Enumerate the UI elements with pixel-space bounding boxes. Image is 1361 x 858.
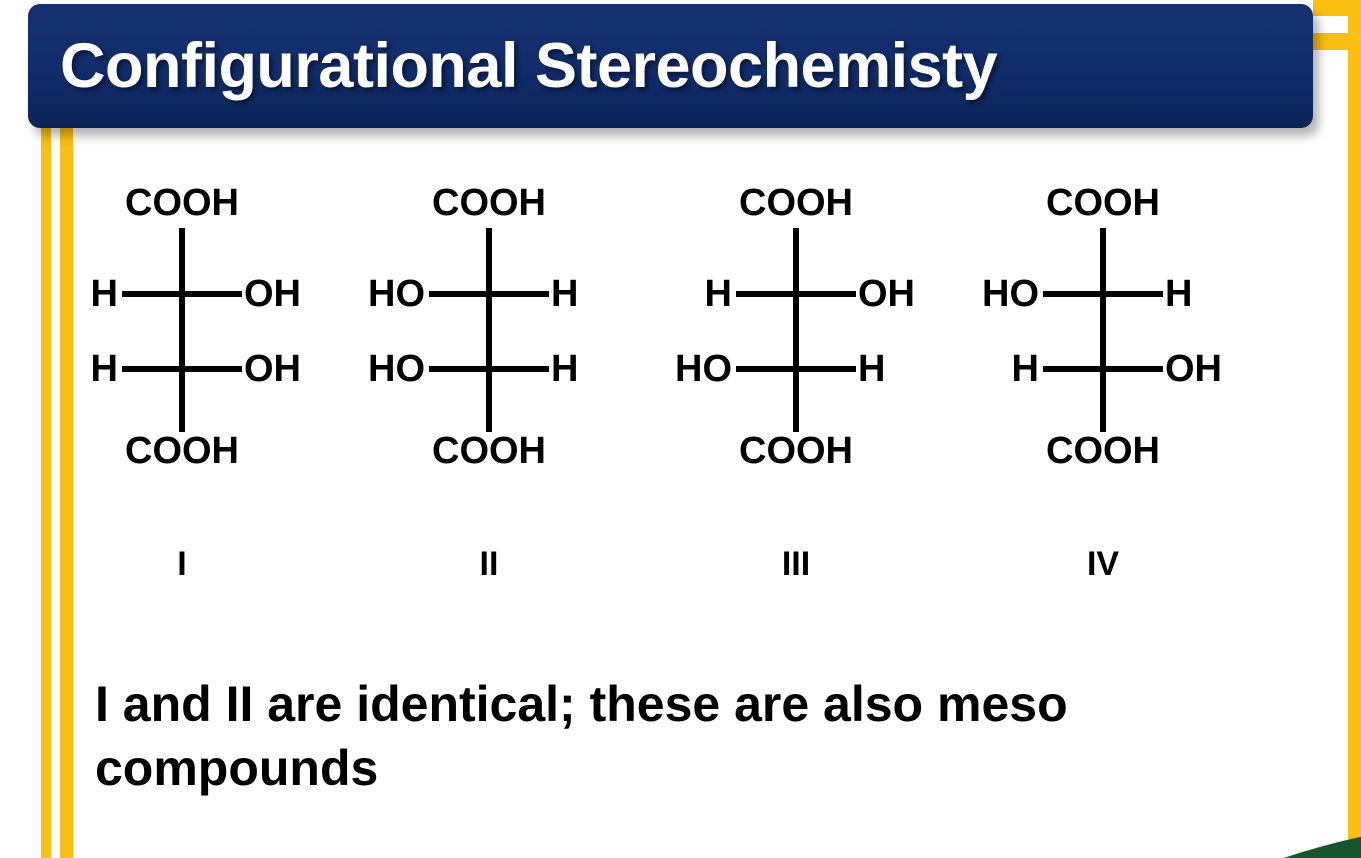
structure-label-3: III (782, 545, 810, 584)
slide-canvas: Configurational Stereochemisty COOH H OH… (0, 0, 1361, 858)
structure-2-row1-right: H (551, 275, 578, 313)
structure-3-row1-left: H (705, 275, 732, 313)
structure-4-row2-left: H (1012, 350, 1039, 388)
fischer-structure-4: COOH HO H H OH COOH (1017, 184, 1324, 484)
structure-label-2: II (480, 545, 499, 584)
structure-4-top-group: COOH (1046, 184, 1160, 222)
structure-3-bond-bottom (793, 369, 799, 432)
structure-4-row1-left: HO (982, 275, 1039, 313)
green-swoosh-shape (1110, 820, 1361, 858)
structure-2-row2-right: H (551, 350, 578, 388)
fischer-structure-1: COOH H OH H OH COOH (96, 184, 403, 484)
structure-label-4: IV (1087, 545, 1119, 584)
structure-4-bond-top (1100, 228, 1106, 294)
structure-2-row1-left: HO (368, 275, 425, 313)
gold-stripe-right-vertical (1348, 0, 1361, 858)
structure-4-row1-right: H (1165, 275, 1192, 313)
structure-label-cell-1: I (96, 545, 403, 605)
structure-3-bond-top (793, 228, 799, 294)
structure-2-row2-left: HO (368, 350, 425, 388)
green-corner-swoosh (1110, 806, 1361, 858)
structure-1-row2-left: H (91, 350, 118, 388)
fischer-structure-3: COOH H OH HO H COOH (710, 184, 1017, 484)
structure-1-diagram: COOH H OH H OH COOH (96, 184, 403, 484)
structure-2-bond-middle (486, 294, 492, 369)
gold-stripe-right-top-bar (1313, 0, 1361, 16)
structure-4-bond-bottom (1100, 369, 1106, 432)
structure-1-bottom-group: COOH (125, 432, 239, 470)
structure-label-1: I (177, 545, 186, 584)
structure-3-bottom-group: COOH (739, 432, 853, 470)
structure-label-cell-2: II (403, 545, 710, 605)
structure-4-row2-right: OH (1165, 350, 1222, 388)
structure-1-bond-middle (179, 294, 185, 369)
slide-title-bar: Configurational Stereochemisty (28, 4, 1313, 128)
gold-stripe-left-inner (60, 112, 73, 858)
structure-label-row: I II III IV (96, 545, 1326, 605)
fischer-projection-row: COOH H OH H OH COOH COOH HO H (96, 184, 1326, 484)
structure-label-cell-3: III (710, 545, 1017, 605)
structure-1-bond-top (179, 228, 185, 294)
slide-title: Configurational Stereochemisty (60, 30, 997, 102)
structure-4-bottom-group: COOH (1046, 432, 1160, 470)
structure-2-bond-bottom (486, 369, 492, 432)
structure-3-top-group: COOH (739, 184, 853, 222)
structure-2-bottom-group: COOH (432, 432, 546, 470)
fischer-structure-2: COOH HO H HO H COOH (403, 184, 710, 484)
structure-1-row2-right: OH (244, 350, 301, 388)
structure-4-bond-middle (1100, 294, 1106, 369)
structure-1-bond-bottom (179, 369, 185, 432)
structure-2-top-group: COOH (432, 184, 546, 222)
gold-stripe-right-second-bar (1313, 33, 1361, 50)
structure-1-row1-right: OH (244, 275, 301, 313)
structure-label-cell-4: IV (1017, 545, 1324, 605)
structure-3-diagram: COOH H OH HO H COOH (710, 184, 1017, 484)
structure-3-row1-right: OH (858, 275, 915, 313)
structure-2-diagram: COOH HO H HO H COOH (403, 184, 710, 484)
structure-3-row2-left: HO (675, 350, 732, 388)
structure-3-row2-right: H (858, 350, 885, 388)
gold-stripe-left-outer (41, 112, 51, 858)
structure-2-bond-top (486, 228, 492, 294)
structure-1-row1-left: H (91, 275, 118, 313)
structure-1-top-group: COOH (125, 184, 239, 222)
structure-4-diagram: COOH HO H H OH COOH (1017, 184, 1324, 484)
structure-3-bond-middle (793, 294, 799, 369)
slide-caption: I and II are identical; these are also m… (95, 672, 1245, 800)
